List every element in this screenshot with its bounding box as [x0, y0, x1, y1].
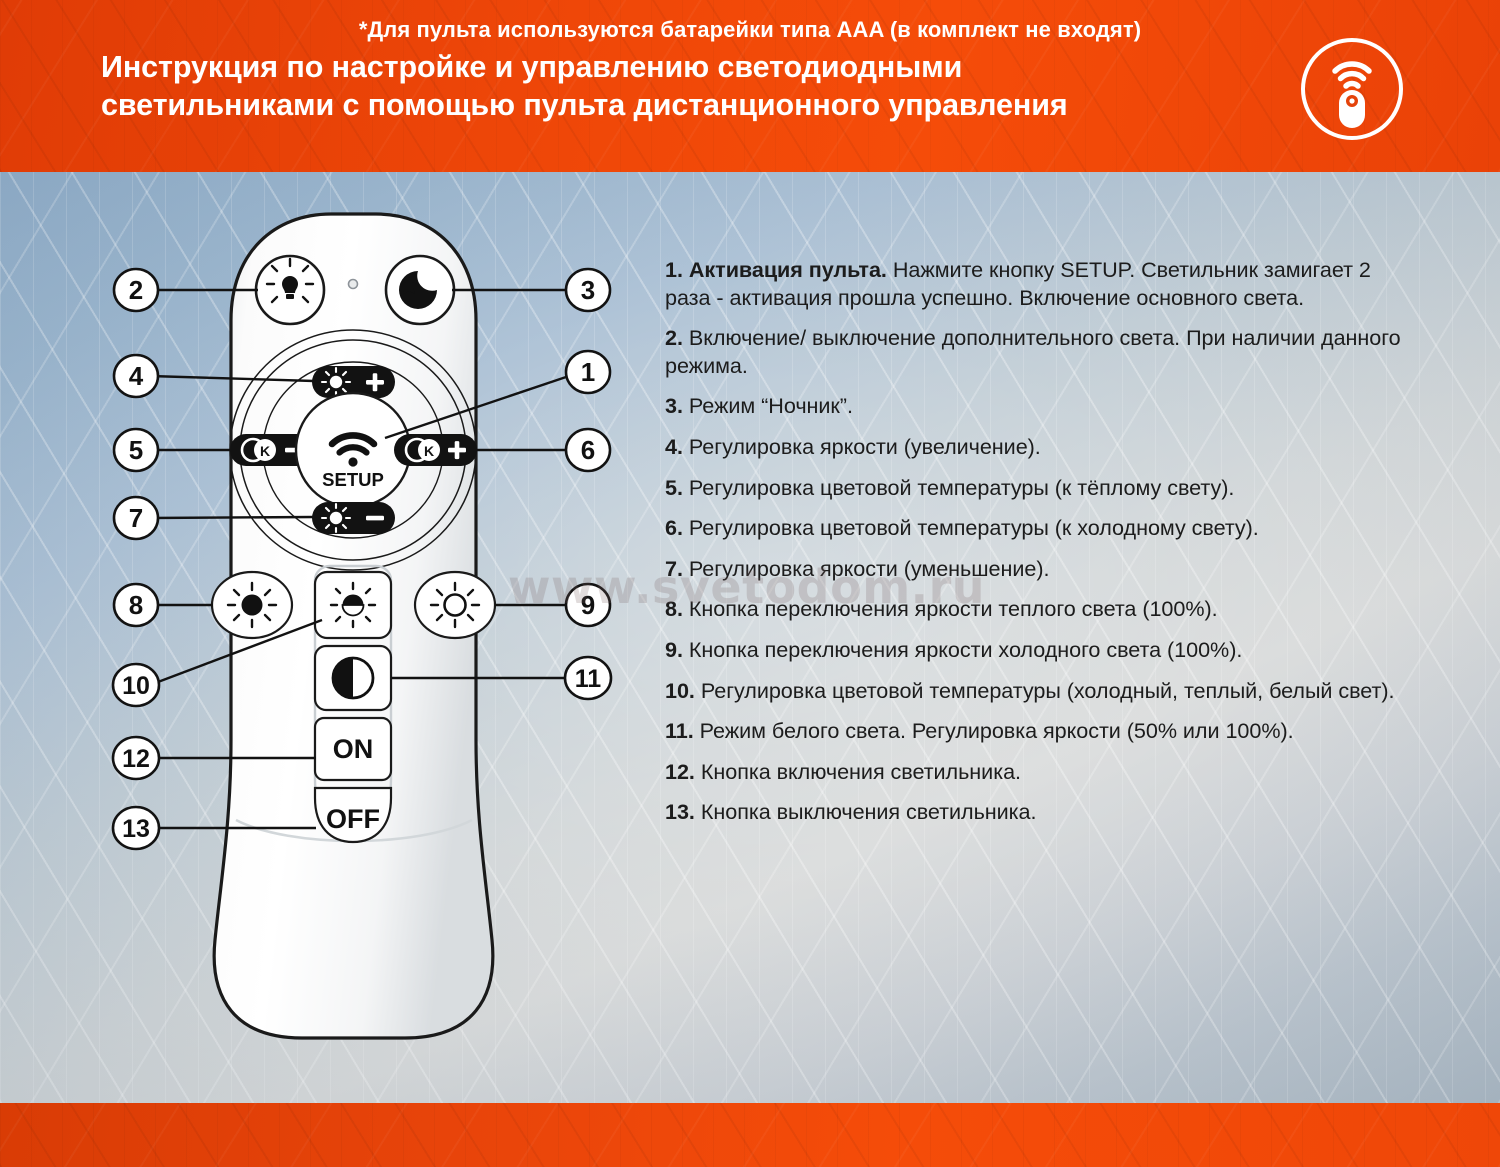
instruction-item-8: 8. Кнопка переключения яркости теплого с… [665, 595, 1417, 623]
instruction-text: Регулировка цветовой температуры (к холо… [689, 515, 1259, 540]
kelvin-up-button[interactable]: K [394, 434, 477, 466]
off-button-label: OFF [326, 804, 380, 834]
remote-diagram: K SETUP K [100, 180, 620, 1080]
instruction-number: 4. [665, 434, 683, 459]
instruction-number: 2. [665, 325, 683, 350]
svg-text:13: 13 [122, 815, 150, 843]
instruction-item-2: 2. Включение/ выключение дополнительного… [665, 324, 1417, 379]
instruction-item-1: 1. Активация пульта. Нажмите кнопку SETU… [665, 256, 1417, 311]
instruction-text: Кнопка включения светильника. [701, 759, 1021, 784]
footer-banner [0, 1103, 1500, 1167]
instruction-number: 12. [665, 759, 695, 784]
instruction-item-7: 7. Регулировка яркости (уменьшение). [665, 555, 1417, 583]
callout-5[interactable]: 5 [114, 429, 158, 471]
callout-1[interactable]: 1 [566, 351, 610, 393]
instruction-number: 1. [665, 257, 683, 282]
svg-text:7: 7 [129, 503, 143, 533]
page-title-line2: светильниками с помощью пульта дистанцио… [101, 86, 1271, 124]
off-button[interactable]: OFF [315, 788, 391, 842]
instruction-number: 7. [665, 556, 683, 581]
ir-led-indicator [349, 280, 358, 289]
instruction-number: 6. [665, 515, 683, 540]
instruction-text: Кнопка переключения яркости теплого свет… [689, 596, 1218, 621]
instruction-text: Кнопка переключения яркости холодного св… [689, 637, 1242, 662]
on-button-label: ON [333, 734, 374, 764]
callout-6[interactable]: 6 [566, 429, 610, 471]
svg-text:2: 2 [129, 275, 143, 305]
instruction-text: Регулировка яркости (увеличение). [689, 434, 1041, 459]
svg-text:10: 10 [122, 672, 150, 700]
instruction-number: 5. [665, 475, 683, 500]
instruction-text: Режим белого света. Регулировка яркости … [700, 718, 1294, 743]
instruction-text: Режим “Ночник”. [689, 393, 853, 418]
instruction-item-6: 6. Регулировка цветовой температуры (к х… [665, 514, 1417, 542]
callout-11[interactable]: 11 [565, 657, 611, 699]
instruction-number: 11. [665, 718, 694, 743]
page-title: Инструкция по настройке и управлению све… [101, 48, 1271, 124]
color-temp-cycle-button[interactable] [315, 572, 391, 638]
setup-button[interactable]: SETUP [296, 393, 410, 507]
remote-signal-icon [1299, 36, 1405, 142]
svg-text:9: 9 [581, 590, 595, 620]
instruction-text: Включение/ выключение дополнительного св… [665, 325, 1401, 378]
instruction-text: Кнопка выключения светильника. [701, 799, 1037, 824]
instruction-item-4: 4. Регулировка яркости (увеличение). [665, 433, 1417, 461]
svg-text:11: 11 [575, 665, 602, 693]
callout-4[interactable]: 4 [114, 355, 158, 397]
instruction-number: 13. [665, 799, 695, 824]
svg-text:1: 1 [581, 357, 595, 387]
instruction-number: 8. [665, 596, 683, 621]
instruction-lead: Активация пульта. [689, 257, 887, 282]
instruction-item-13: 13. Кнопка выключения светильника. [665, 798, 1417, 826]
callout-13[interactable]: 13 [113, 807, 159, 849]
svg-text:8: 8 [129, 590, 143, 620]
callout-3[interactable]: 3 [566, 269, 610, 311]
svg-text:5: 5 [129, 435, 143, 465]
svg-text:12: 12 [122, 745, 150, 773]
on-button[interactable]: ON [315, 718, 391, 780]
instruction-number: 9. [665, 637, 683, 662]
callout-7[interactable]: 7 [114, 497, 158, 539]
white-mode-button[interactable] [315, 646, 391, 710]
night-mode-button[interactable] [386, 256, 454, 324]
instruction-text: Регулировка цветовой температуры (холодн… [701, 678, 1395, 703]
instruction-item-12: 12. Кнопка включения светильника. [665, 758, 1417, 786]
footer-hatch-pattern [0, 1103, 1500, 1167]
instruction-item-10: 10. Регулировка цветовой температуры (хо… [665, 677, 1417, 705]
callout-10[interactable]: 10 [113, 664, 159, 706]
svg-text:4: 4 [129, 361, 144, 391]
svg-text:K: K [424, 443, 434, 459]
instructions-list: 1. Активация пульта. Нажмите кнопку SETU… [665, 256, 1417, 826]
instruction-item-5: 5. Регулировка цветовой температуры (к т… [665, 474, 1417, 502]
instruction-text: Регулировка цветовой температуры (к тёпл… [689, 475, 1234, 500]
setup-button-label: SETUP [322, 469, 384, 490]
instruction-item-11: 11. Режим белого света. Регулировка ярко… [665, 717, 1417, 745]
instruction-number: 3. [665, 393, 683, 418]
battery-note: *Для пульта используются батарейки типа … [0, 17, 1500, 43]
svg-text:K: K [260, 443, 270, 459]
warm-full-button[interactable] [212, 572, 292, 638]
page-title-line1: Инструкция по настройке и управлению све… [101, 50, 962, 84]
instruction-poster: Инструкция по настройке и управлению све… [0, 0, 1500, 1167]
brightness-down-button[interactable] [312, 502, 395, 534]
callout-12[interactable]: 12 [113, 737, 159, 779]
svg-text:6: 6 [581, 435, 595, 465]
instruction-item-3: 3. Режим “Ночник”. [665, 392, 1417, 420]
instruction-number: 10. [665, 678, 695, 703]
callout-2[interactable]: 2 [114, 269, 158, 311]
callout-8[interactable]: 8 [114, 584, 158, 626]
callout-9[interactable]: 9 [566, 584, 610, 626]
aux-light-button[interactable] [256, 256, 324, 324]
instruction-item-9: 9. Кнопка переключения яркости холодного… [665, 636, 1417, 664]
svg-text:3: 3 [581, 275, 595, 305]
instruction-text: Регулировка яркости (уменьшение). [689, 556, 1050, 581]
cool-full-button[interactable] [415, 572, 495, 638]
